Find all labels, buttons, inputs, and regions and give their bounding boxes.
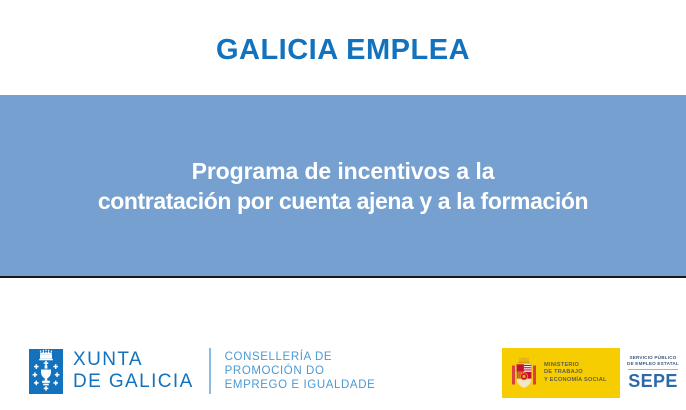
xunta-wordmark: XUNTA DE GALICIA bbox=[73, 349, 194, 393]
ministerio-wordmark: MINISTERIO DE TRABAJO Y ECONOMÍA SOCIAL bbox=[544, 362, 607, 384]
sepe-logo: SERVICIO PÚBLICO DE EMPLEO ESTATAL SEPE bbox=[620, 348, 686, 398]
xunta-wordmark-line-1: XUNTA bbox=[73, 349, 194, 371]
header-zone: GALICIA EMPLEA bbox=[0, 0, 686, 95]
xunta-wordmark-line-2: DE GALICIA bbox=[73, 371, 194, 393]
logo-divider bbox=[209, 348, 211, 394]
ministerio-line-1: MINISTERIO bbox=[544, 362, 607, 369]
xunta-de-galicia-logo: XUNTA DE GALICIA CONSELLERÍA DE PROMOCIÓ… bbox=[29, 348, 375, 394]
conselleria-wordmark: CONSELLERÍA DE PROMOCIÓN DO EMPREGO E IG… bbox=[225, 350, 376, 392]
conselleria-line-1: CONSELLERÍA DE bbox=[225, 350, 376, 364]
ministerio-logo: MINISTERIO DE TRABAJO Y ECONOMÍA SOCIAL bbox=[502, 348, 620, 398]
sepe-caption: SERVICIO PÚBLICO DE EMPLEO ESTATAL bbox=[627, 355, 679, 367]
program-banner: Programa de incentivos a la contratación… bbox=[0, 95, 686, 276]
sepe-caption-line-2: DE EMPLEO ESTATAL bbox=[627, 361, 679, 367]
sepe-acronym: SEPE bbox=[628, 369, 678, 391]
spain-coat-of-arms-icon bbox=[511, 356, 537, 390]
page-title: GALICIA EMPLEA bbox=[216, 34, 470, 67]
conselleria-line-3: EMPREGO E IGUALDADE bbox=[225, 378, 376, 392]
ministerio-line-2: DE TRABAJO bbox=[544, 369, 607, 376]
ministerio-line-3: Y ECONOMÍA SOCIAL bbox=[544, 377, 607, 384]
galicia-coat-of-arms-icon bbox=[29, 349, 63, 394]
banner-subtitle-line-2: contratación por cuenta ajena y a la for… bbox=[98, 186, 588, 216]
banner-subtitle-line-1: Programa de incentivos a la bbox=[192, 156, 495, 186]
conselleria-line-2: PROMOCIÓN DO bbox=[225, 364, 376, 378]
